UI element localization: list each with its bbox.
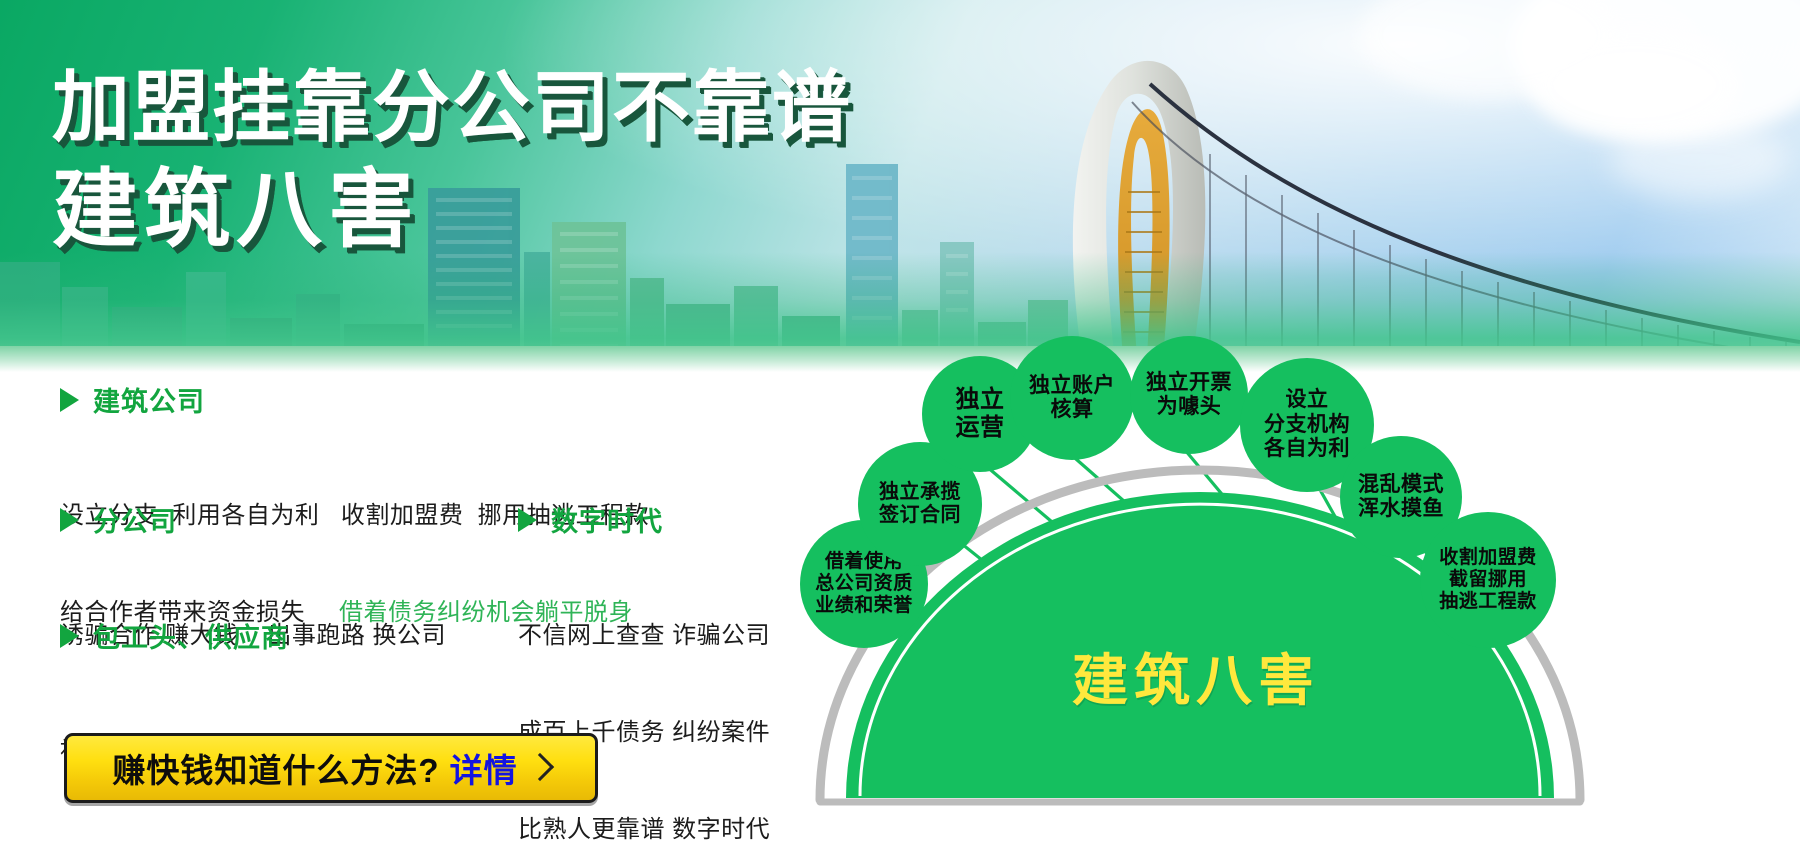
left-content-column: 建筑公司 设立分支 利用各自为利 收割加盟费 挪用抽逃工程款 给合作者带来资金损… (0, 380, 820, 844)
bubble-line: 为噱头 (1157, 395, 1222, 419)
cta-button[interactable]: 赚快钱知道什么方法? 详情 (64, 733, 598, 803)
eight-harms-diagram: 建筑八害 借着使用 总公司资质 业绩和荣誉 独立承揽 签订合同 独立 运营 独立… (800, 336, 1800, 844)
cta-detail-link[interactable]: 详情 (450, 744, 518, 792)
bubble-line: 各自为利 (1264, 437, 1350, 461)
bubble-line: 混乱模式 (1358, 473, 1444, 497)
section-heading: 包工头、供应商 (60, 616, 456, 655)
section-title: 包工头、供应商 (93, 616, 289, 655)
cta-main-label: 赚快钱知道什么方法? (112, 744, 439, 792)
triangle-bullet-icon (60, 624, 79, 648)
bubble-line: 分支机构 (1264, 413, 1350, 437)
section-title: 数字时代 (551, 500, 663, 539)
page-title-line1: 加盟挂靠分公司不靠谱 (52, 66, 852, 149)
bubble-line: 独立账户 (1029, 374, 1115, 398)
section-heading: 分公司 (60, 500, 446, 539)
section-title: 分公司 (93, 500, 177, 539)
bubble-line: 总公司资质 (815, 573, 913, 595)
bubble-harvest-franchise-fee[interactable]: 收割加盟费 截留挪用 抽逃工程款 (1420, 512, 1556, 648)
body-line: 不信网上查查 诈骗公司 (518, 620, 770, 652)
bubble-line: 独立 (956, 386, 1005, 414)
bubble-line: 浑水摸鱼 (1358, 497, 1444, 521)
bubble-line: 收割加盟费 (1439, 547, 1537, 569)
triangle-bullet-icon (60, 388, 79, 412)
page-title: 加盟挂靠分公司不靠谱 建筑八害 (52, 66, 852, 256)
bubble-line: 抽逃工程款 (1439, 591, 1537, 613)
bubble-line: 截留挪用 (1449, 569, 1527, 591)
triangle-bullet-icon (60, 508, 79, 532)
section-title: 建筑公司 (93, 380, 205, 419)
bubble-line: 设立 (1286, 388, 1329, 412)
bubble-line: 核算 (1051, 398, 1094, 422)
bubble-line: 独立承揽 (879, 481, 961, 504)
dome-label: 建筑八害 (1072, 636, 1320, 717)
section-heading: 建筑公司 (60, 380, 649, 419)
bubble-line: 业绩和荣誉 (815, 595, 913, 617)
bubble-independent-invoice[interactable]: 独立开票 为噱头 (1130, 336, 1248, 454)
poster-page: 加盟挂靠分公司不靠谱 建筑八害 建筑公司 设立分支 利用各自为利 收割加盟费 挪… (0, 0, 1800, 844)
bubble-line: 签订合同 (879, 504, 961, 527)
bubble-line: 运营 (956, 414, 1005, 442)
section-heading: 数字时代 (518, 500, 770, 539)
hero-banner: 加盟挂靠分公司不靠谱 建筑八害 (0, 0, 1800, 372)
chevron-right-icon (525, 753, 553, 781)
cable-bridge-image (1020, 42, 1800, 372)
bubble-line: 独立开票 (1146, 371, 1232, 395)
body-line: 比熟人更靠谱 数字时代 (518, 814, 770, 844)
bubble-independent-account[interactable]: 独立账户 核算 (1010, 336, 1134, 460)
page-title-line2: 建筑八害 (52, 165, 852, 256)
triangle-bullet-icon (518, 508, 537, 532)
